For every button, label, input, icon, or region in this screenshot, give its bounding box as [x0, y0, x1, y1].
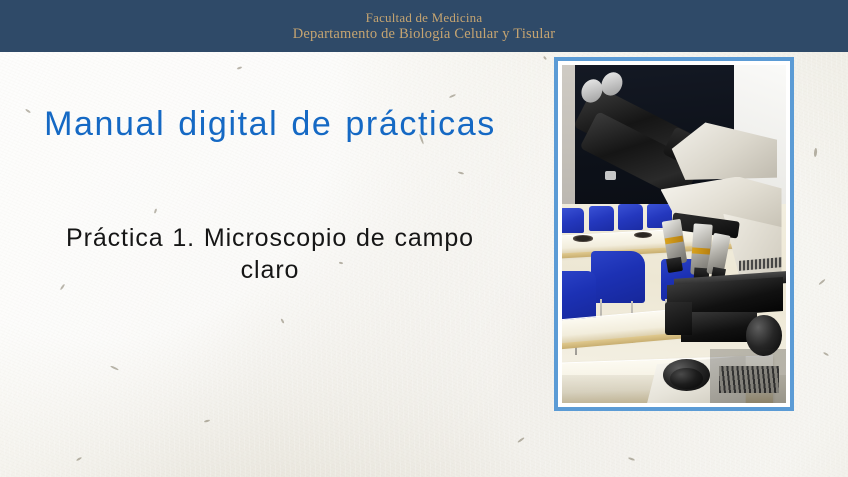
- page-subtitle: Práctica 1. Microscopio de campo claro: [40, 222, 500, 286]
- title-block: Manual digital de prácticas: [40, 104, 500, 145]
- subtitle-block: Práctica 1. Microscopio de campo claro: [40, 222, 500, 286]
- header-faculty-name: Facultad de Medicina: [366, 11, 483, 26]
- header-department-name: Departamento de Biología Celular y Tisul…: [293, 26, 556, 42]
- microscope-photo: [562, 65, 786, 403]
- page-title: Manual digital de prácticas: [40, 104, 500, 145]
- header-band: Facultad de Medicina Departamento de Bio…: [0, 0, 848, 52]
- text-column: Manual digital de prácticas Práctica 1. …: [0, 52, 540, 477]
- slide-root: Facultad de Medicina Departamento de Bio…: [0, 0, 848, 477]
- photo-frame: [554, 57, 794, 411]
- photo-microscope: [562, 65, 786, 403]
